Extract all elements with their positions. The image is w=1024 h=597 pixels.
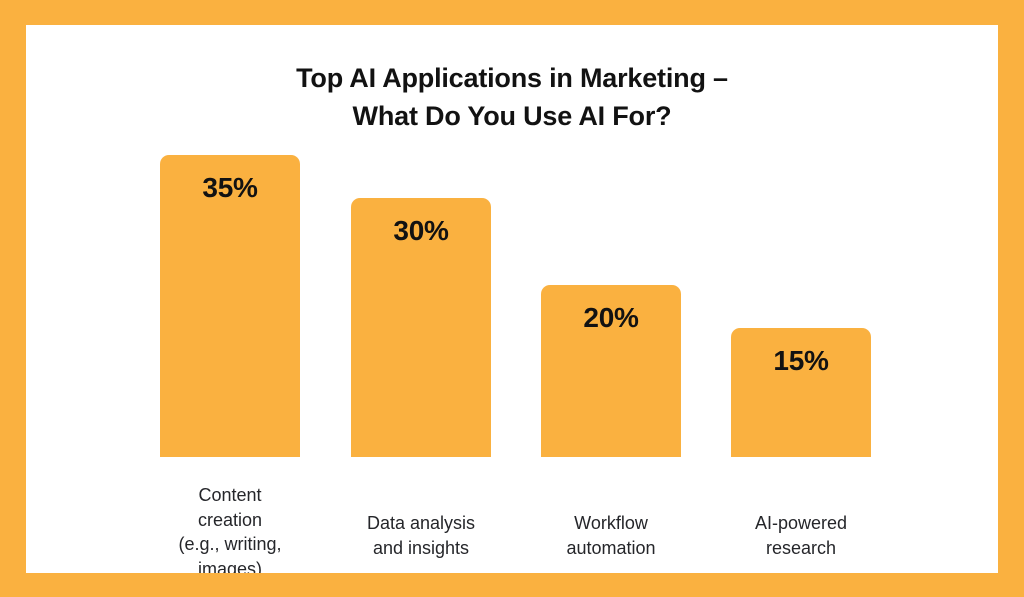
bar-category-label: AI-powered research xyxy=(717,511,885,560)
chart-canvas: Top AI Applications in Marketing – What … xyxy=(26,25,998,573)
plot-area: 35%Content creation (e.g., writing, imag… xyxy=(26,25,998,573)
bar-group: 35%Content creation (e.g., writing, imag… xyxy=(160,25,300,573)
bar-value-label: 20% xyxy=(541,303,681,333)
bar-category-label: Data analysis and insights xyxy=(337,511,505,560)
bar-category-label: Content creation (e.g., writing, images) xyxy=(146,483,314,573)
bar-group: 30%Data analysis and insights xyxy=(351,25,491,573)
bar-value-label: 30% xyxy=(351,216,491,246)
bar-value-label: 15% xyxy=(731,346,871,376)
bar-group: 20%Workflow automation xyxy=(541,25,681,573)
bar-group: 15%AI-powered research xyxy=(731,25,871,573)
bar-value-label: 35% xyxy=(160,173,300,203)
chart-frame: Top AI Applications in Marketing – What … xyxy=(0,0,1024,597)
bar-category-label: Workflow automation xyxy=(527,511,695,560)
